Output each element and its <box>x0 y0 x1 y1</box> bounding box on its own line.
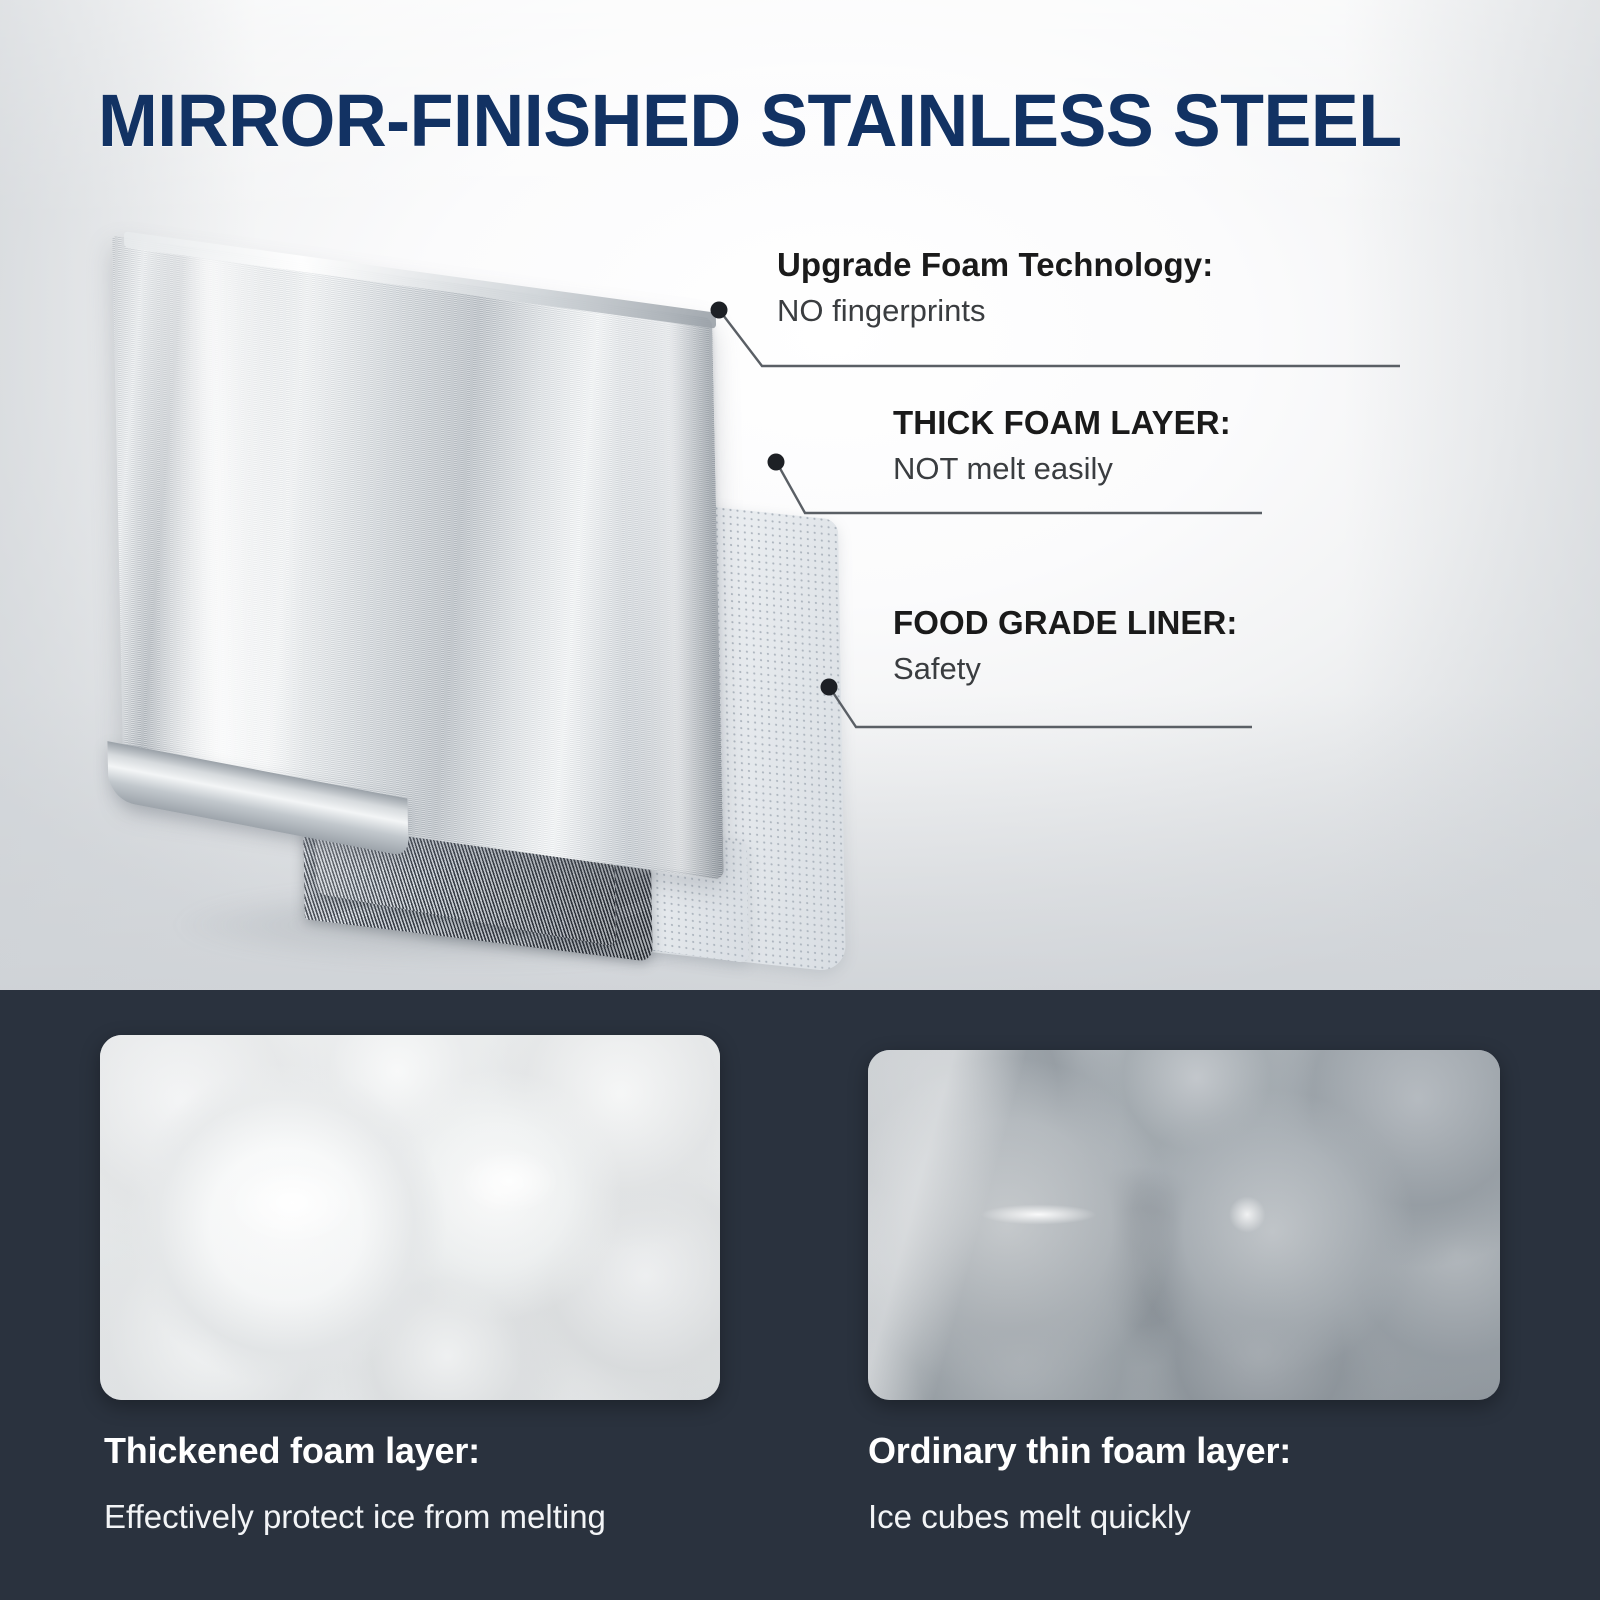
comparison-section: Thickened foam layer: Effectively protec… <box>0 990 1600 1600</box>
callout-title: THICK FOAM LAYER: <box>893 404 1231 442</box>
callout-subtitle: NOT melt easily <box>893 451 1231 487</box>
callout-food-grade-liner: FOOD GRADE LINER: Safety <box>893 604 1238 687</box>
callout-subtitle: NO fingerprints <box>777 293 1213 329</box>
caption-title: Thickened foam layer: <box>104 1430 606 1472</box>
layered-material-diagram <box>0 0 1000 990</box>
callout-subtitle: Safety <box>893 651 1238 687</box>
caption-subtitle: Effectively protect ice from melting <box>104 1498 606 1536</box>
callout-title: Upgrade Foam Technology: <box>777 246 1213 284</box>
caption-title: Ordinary thin foam layer: <box>868 1430 1291 1472</box>
caption-subtitle: Ice cubes melt quickly <box>868 1498 1291 1536</box>
ice-cubes-solid-image <box>100 1035 720 1400</box>
ice-cubes-melting-image <box>868 1050 1500 1400</box>
callout-title: FOOD GRADE LINER: <box>893 604 1238 642</box>
ice-cubes-solid-photo <box>100 1035 720 1400</box>
ice-cubes-melting-photo <box>868 1050 1500 1400</box>
comparison-caption: Ordinary thin foam layer: Ice cubes melt… <box>868 1430 1291 1536</box>
callout-upgrade-foam-technology: Upgrade Foam Technology: NO fingerprints <box>777 246 1213 329</box>
hero-section: MIRROR-FINISHED STAINLESS STEEL Upgrade … <box>0 0 1600 990</box>
comparison-caption: Thickened foam layer: Effectively protec… <box>104 1430 606 1536</box>
callout-thick-foam-layer: THICK FOAM LAYER: NOT melt easily <box>893 404 1231 487</box>
